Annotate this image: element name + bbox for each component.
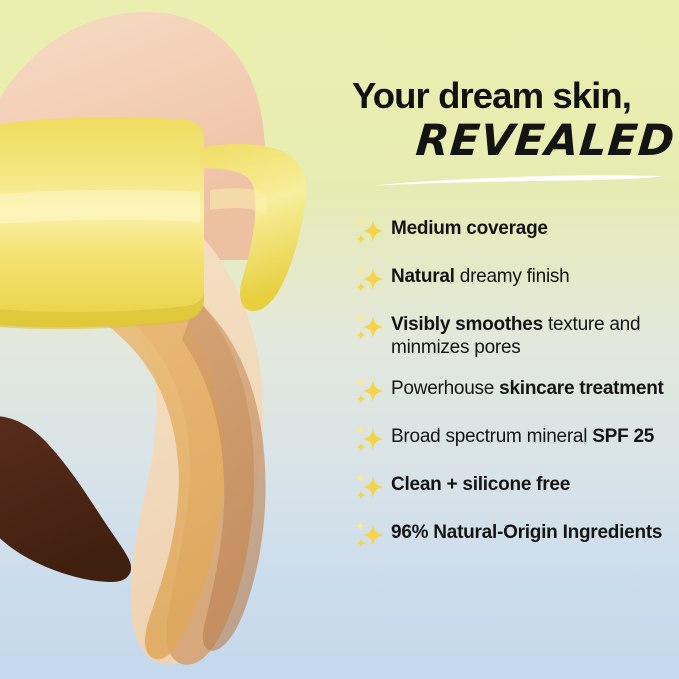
- feature-list: Medium coverageNatural dreamy finishVisi…: [353, 214, 679, 566]
- sparkle-icon: [353, 471, 385, 503]
- headline-line-1: Your dream skin,: [352, 78, 679, 115]
- feature-text-part: skincare treatment: [499, 378, 663, 399]
- feature-item: Powerhouse skincare treatment: [353, 374, 679, 407]
- feature-item: Clean + silicone free: [353, 470, 679, 503]
- feature-text-part: Medium coverage: [391, 218, 548, 239]
- dark-brown-swatch-stroke: [0, 416, 131, 582]
- feature-item-label: Visibly smoothes texture and minmizes po…: [391, 310, 679, 359]
- feature-item: 96% Natural-Origin Ingredients: [353, 518, 679, 551]
- feature-item-label: 96% Natural-Origin Ingredients: [391, 518, 662, 544]
- sparkle-icon: [353, 519, 385, 551]
- sparkle-icon: [353, 375, 385, 407]
- sparkle-icon: [353, 423, 385, 455]
- feature-text-part: Powerhouse: [391, 378, 499, 399]
- brush-swoosh-icon: [371, 172, 667, 188]
- feature-item: Broad spectrum mineral SPF 25: [353, 422, 679, 455]
- feature-item-label: Broad spectrum mineral SPF 25: [391, 422, 654, 448]
- feature-item-label: Medium coverage: [391, 214, 548, 240]
- feature-text-part: SPF 25: [592, 426, 654, 447]
- sparkle-icon: [353, 215, 385, 247]
- feature-item-label: Powerhouse skincare treatment: [391, 374, 664, 400]
- feature-text-part: Visibly smoothes: [391, 314, 548, 335]
- feature-text-part: Natural: [391, 266, 460, 287]
- feature-item-label: Clean + silicone free: [391, 470, 570, 496]
- product-ad-graphic: Your dream skin, REVEALED Medium coverag…: [0, 0, 679, 679]
- sparkle-icon: [353, 311, 385, 343]
- headline-line-2: REVEALED: [350, 120, 679, 163]
- headline: Your dream skin, REVEALED: [352, 78, 679, 163]
- feature-text-part: Clean + silicone free: [391, 474, 570, 495]
- product-artwork: [0, 0, 345, 679]
- feature-text-part: 96% Natural-Origin Ingredients: [391, 522, 662, 543]
- feature-item: Visibly smoothes texture and minmizes po…: [353, 310, 679, 359]
- feature-item: Natural dreamy finish: [353, 262, 679, 295]
- yellow-cylinder-cap: [0, 117, 204, 327]
- text-panel: Your dream skin, REVEALED Medium coverag…: [345, 0, 679, 679]
- feature-text-part: dreamy finish: [460, 266, 570, 287]
- sparkle-icon: [353, 263, 385, 295]
- feature-item: Medium coverage: [353, 214, 679, 247]
- feature-text-part: Broad spectrum mineral: [391, 426, 592, 447]
- feature-item-label: Natural dreamy finish: [391, 262, 570, 288]
